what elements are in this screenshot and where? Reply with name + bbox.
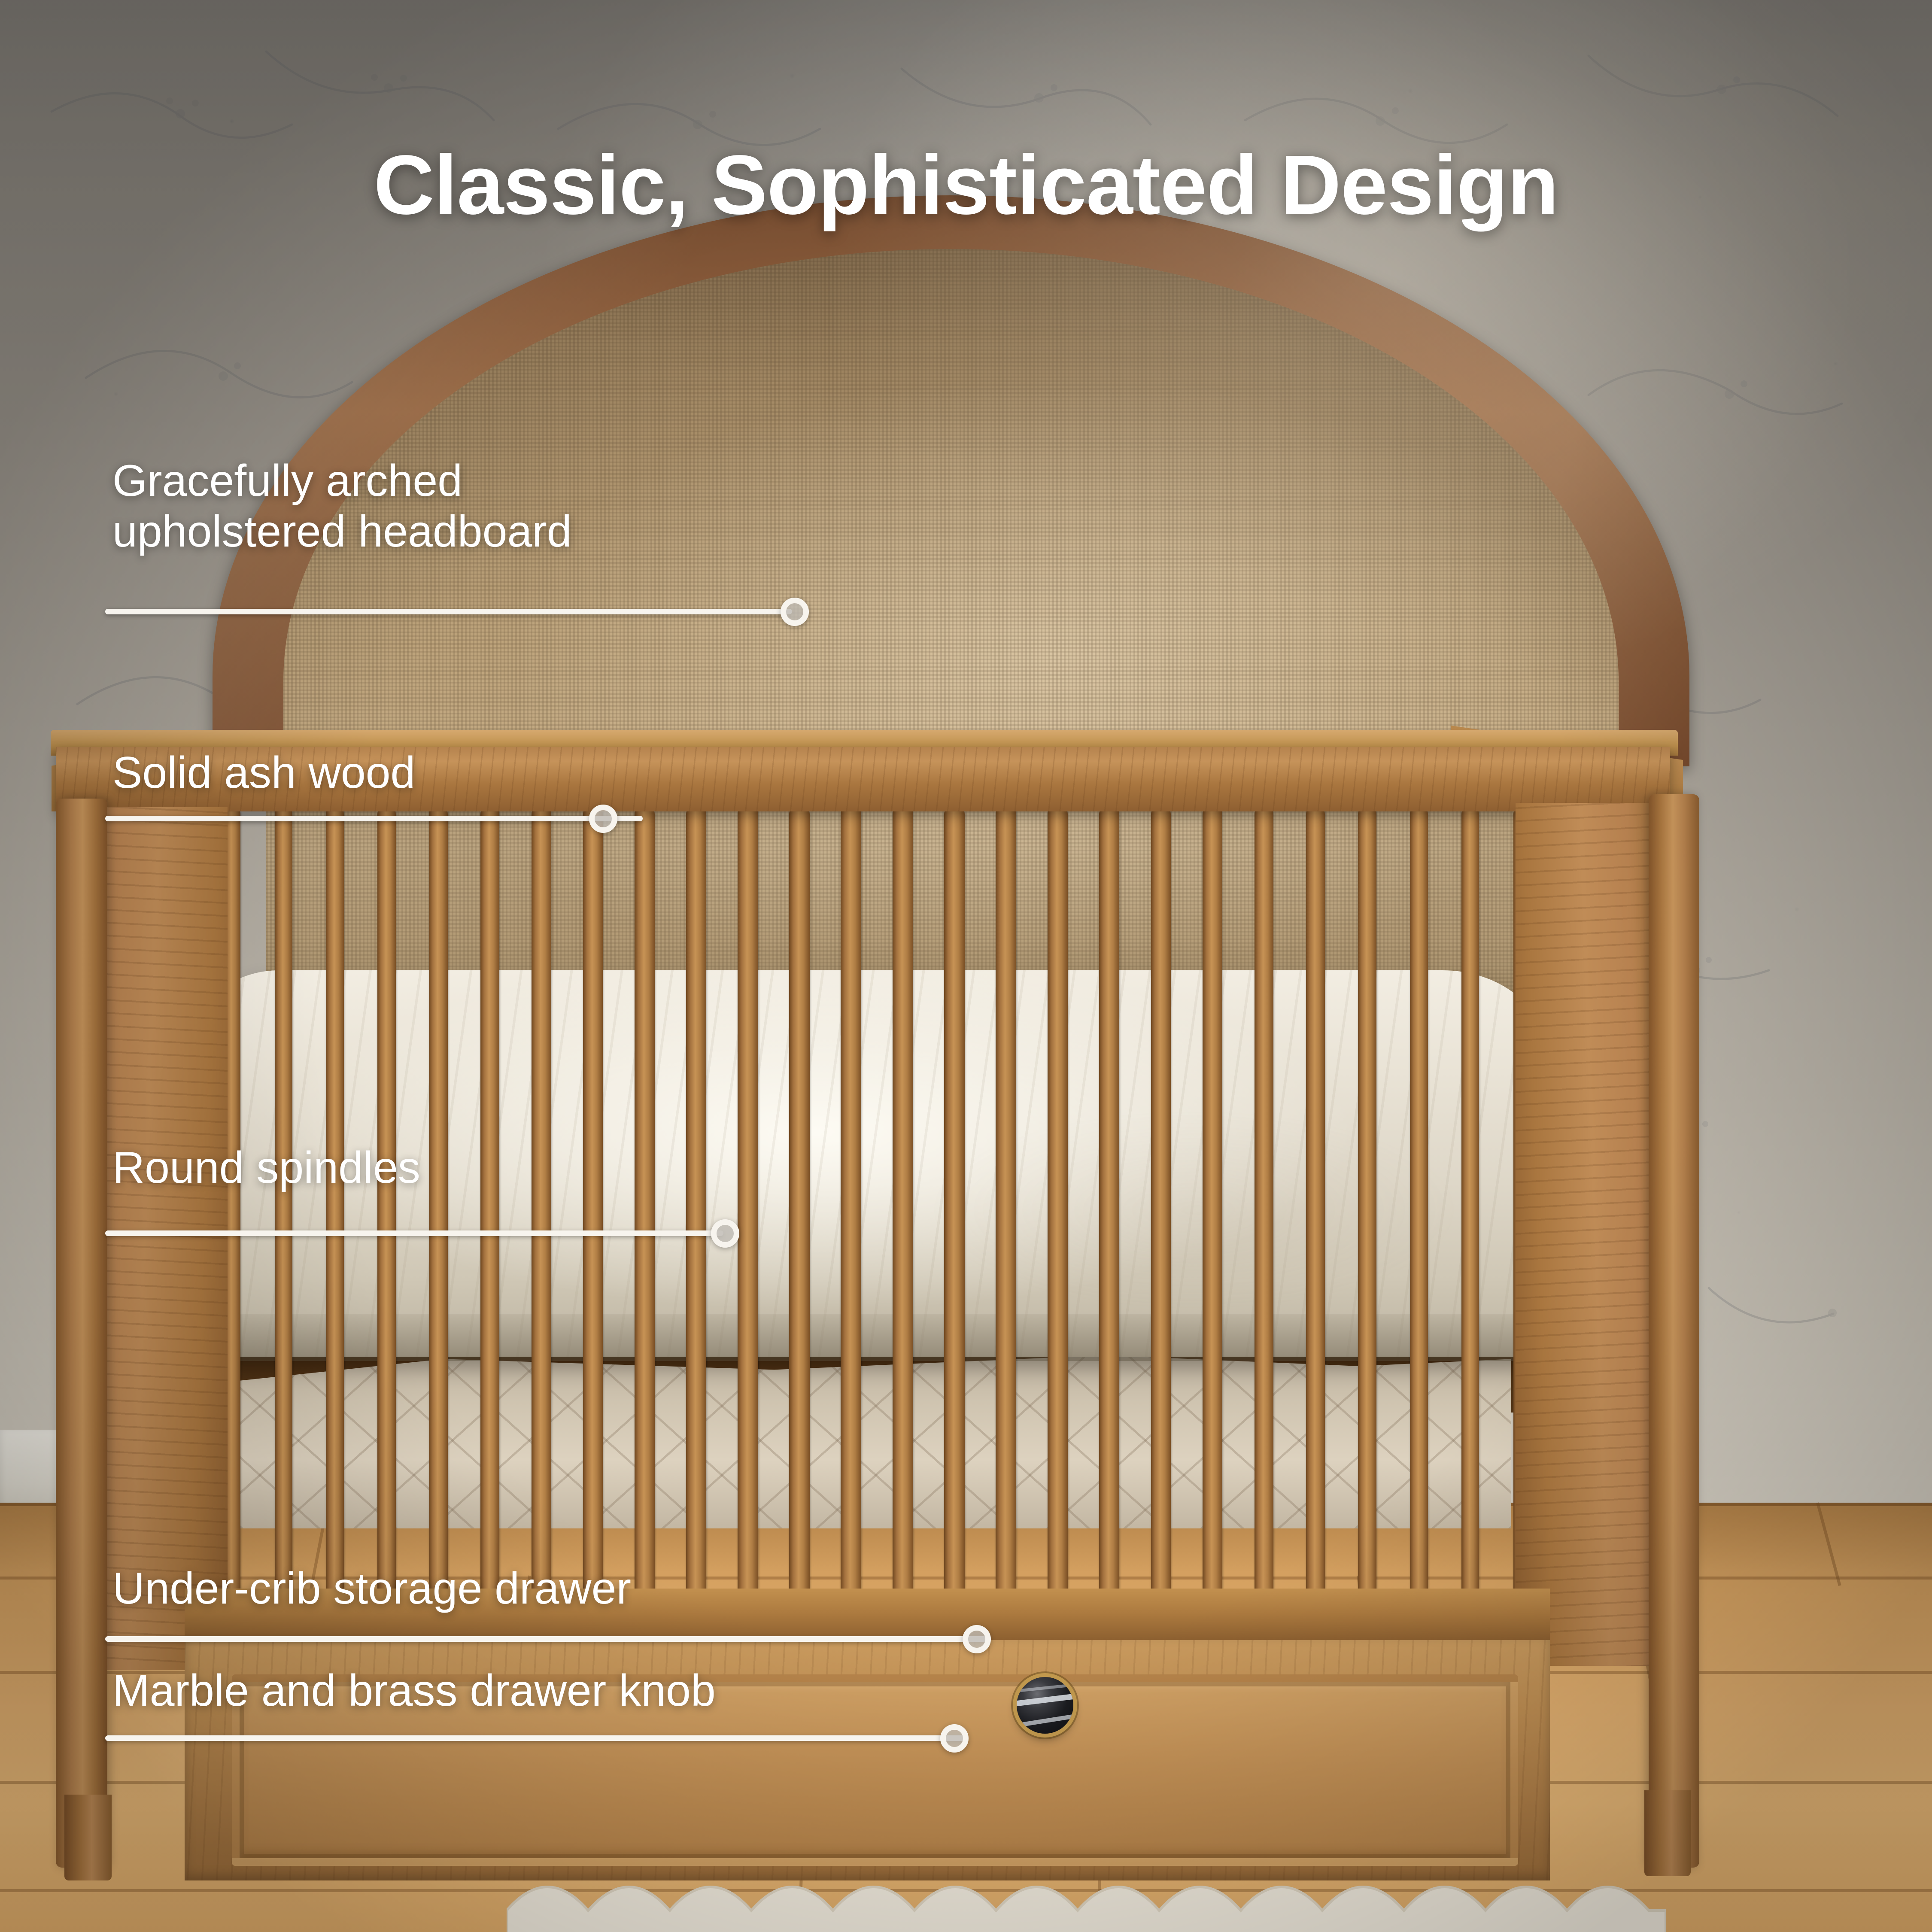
crib-spindle xyxy=(996,807,1016,1601)
crib-spindle xyxy=(1461,807,1479,1601)
crib-spindle xyxy=(893,807,913,1601)
page-title: Classic, Sophisticated Design xyxy=(0,137,1932,233)
callout-leader-line-headboard xyxy=(105,609,792,614)
crib-spindle xyxy=(275,807,292,1601)
callout-label-spindles: Round spindles xyxy=(112,1143,420,1194)
crib-spindle xyxy=(480,807,500,1601)
callout-label-drawer-knob: Marble and brass drawer knob xyxy=(112,1666,716,1716)
nursery-scalloped-rug xyxy=(507,1859,1666,1932)
callout-leader-line-spindles xyxy=(105,1230,723,1236)
crib-spindle xyxy=(789,807,810,1601)
crib-spindle xyxy=(583,807,603,1601)
crib-spindle xyxy=(1410,807,1428,1601)
callout-label-storage-drawer: Under-crib storage drawer xyxy=(112,1564,631,1614)
crib-leg-left xyxy=(64,1795,112,1880)
crib-spindle xyxy=(1151,807,1171,1601)
crib-spindle xyxy=(1203,807,1222,1601)
crib-spindle xyxy=(1099,807,1119,1601)
callout-marker-headboard xyxy=(781,598,809,626)
marble-brass-drawer-knob[interactable] xyxy=(1017,1677,1073,1734)
crib-spindle xyxy=(1306,807,1325,1601)
crib-spindle xyxy=(841,807,861,1601)
crib-spindle xyxy=(532,807,551,1601)
mattress-edge-shadow xyxy=(193,1314,1546,1361)
crib-spindle xyxy=(738,807,758,1601)
product-infographic: Classic, Sophisticated Design Gracefully… xyxy=(0,0,1932,1932)
crib-spindle xyxy=(1048,807,1068,1601)
crib-spindle xyxy=(944,807,965,1601)
callout-leader-line-drawer-knob xyxy=(105,1735,966,1741)
crib-spindle xyxy=(429,807,448,1601)
right-panel-grain xyxy=(1516,803,1657,1666)
crib-spindle xyxy=(686,807,706,1601)
crib-corner-post-left xyxy=(56,799,107,1868)
crib-corner-post-right xyxy=(1649,794,1699,1868)
crib-spindle xyxy=(377,807,396,1601)
crib-spindle xyxy=(635,807,655,1601)
crib-spindle xyxy=(1358,807,1376,1601)
callout-leader-line-ash-wood xyxy=(105,816,643,821)
callout-marker-storage-drawer xyxy=(963,1625,991,1653)
callout-leader-line-storage-drawer xyxy=(105,1636,989,1642)
callout-marker-ash-wood xyxy=(589,805,617,833)
crib-spindle xyxy=(1255,807,1274,1601)
crib-spindle xyxy=(326,807,344,1601)
callout-label-ash-wood: Solid ash wood xyxy=(112,748,415,799)
callout-label-headboard: Gracefully arched upholstered headboard xyxy=(112,456,572,557)
callout-marker-drawer-knob xyxy=(940,1724,969,1753)
callout-marker-spindles xyxy=(711,1219,739,1248)
